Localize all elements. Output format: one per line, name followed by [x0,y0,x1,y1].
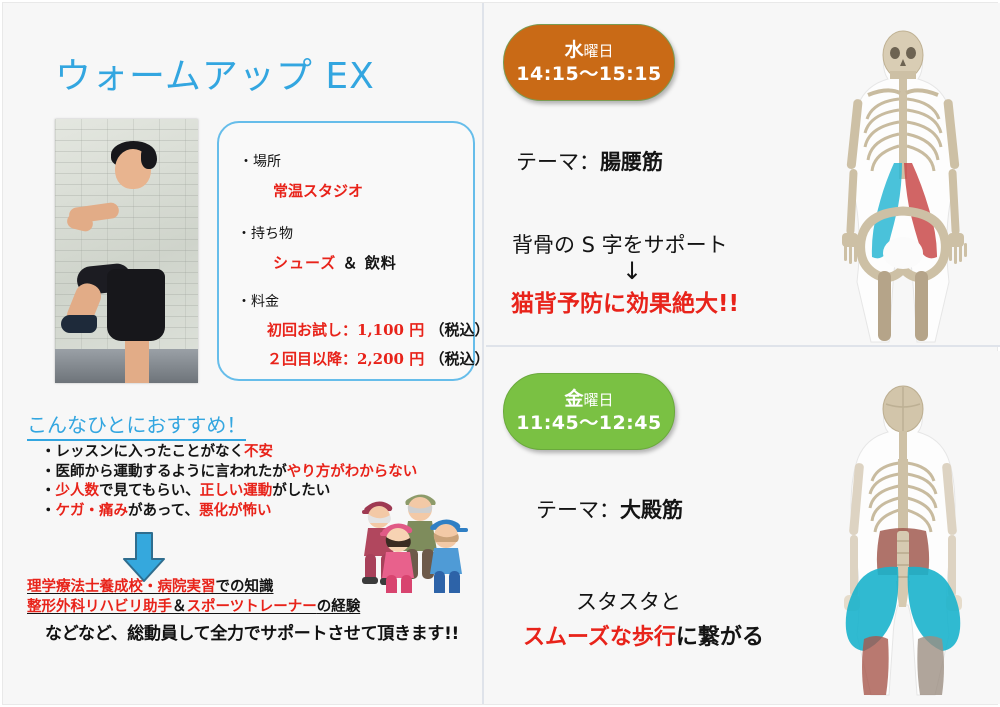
credential-2-red-a: 整形外科リハビリ助手 [27,599,172,615]
badge-time-wednesday: 14:15〜15:15 [516,62,661,86]
credential-line-2: 整形外科リハビリ助手＆スポーツトレーナーの経験 [27,597,459,617]
bring-drink: 飲料 [365,254,397,272]
credentials-closing: などなど、総動員して全力でサポートさせて頂きます!! [45,619,459,644]
fee-repeat-row: ２回目以降：2,200 円 （税込） [267,348,489,369]
theme-label-friday: テーマ： [536,498,620,522]
session-panel-friday: 金曜日 11:45〜12:45 テーマ：大殿筋 スタスタと スムーズな歩行に繋が… [486,351,1000,704]
message-plain-friday: スタスタと [576,586,681,616]
theme-friday: テーマ：大殿筋 [536,494,683,524]
session-panel-wednesday: 水曜日 14:15〜15:15 テーマ：腸腰筋 背骨の S 字をサポート ↓ 猫… [486,3,1000,347]
rec-3-red1: ケガ・痛み [56,503,129,519]
message-mix-black-friday: に繋がる [676,625,764,650]
rec-2-red2: 正しい運動 [200,483,273,499]
credential-2-red-b: スポーツトレーナー [187,599,317,615]
trainer-photo [55,119,198,383]
anatomy-gluteus-maximus-posterior [808,371,998,696]
badge-day-label-wednesday: 水曜日 [564,39,613,62]
rec-2-red1: 少人数 [56,483,100,499]
list-item: ・医師から運動するように言われたがやり方がわからない [41,463,417,483]
theme-value-friday: 大殿筋 [620,498,683,522]
day-badge-friday: 金曜日 11:45〜12:45 [503,373,675,450]
rec-3-black1: ・ [41,503,56,519]
message-mix-red-friday: スムーズな歩行 [523,625,676,650]
left-panel: ウォームアップ EX ・場所 常温スタジオ ・持ち物 [3,3,484,704]
rec-2-black1: ・ [41,483,56,499]
message-plain-wednesday: 背骨の S 字をサポート [512,229,728,259]
class-info-box: ・場所 常温スタジオ ・持ち物 シューズ ＆ 飲料 ・料金 初回お試し：1,10… [217,121,475,381]
credential-2-black-a: ＆ [172,599,187,615]
recommend-heading: こんなひとにおすすめ！ [27,409,246,441]
info-group-fee: ・料金 初回お試し：1,100 円 （税込） ２回目以降：2,200 円 （税込… [237,291,489,369]
badge-day-label-friday: 金曜日 [564,388,613,411]
theme-value-wednesday: 腸腰筋 [600,150,663,174]
rec-2-black3: がしたい [272,483,330,499]
page-title: ウォームアップ EX [55,47,375,99]
bring-label: ・持ち物 [237,223,397,243]
fee-first-tax: （税込） [429,321,489,339]
rec-1-red1: やり方がわからない [287,464,418,480]
photo-person-shorts [107,269,165,341]
credential-2-black-b: の経験 [317,599,361,615]
rec-3-red2: 悪化が怖い [199,503,272,519]
rec-2-black2: で見てもらい、 [99,483,200,499]
place-value: 常温スタジオ [273,180,363,201]
fee-repeat-amount: ２回目以降：2,200 円 [267,350,424,368]
theme-label-wednesday: テーマ： [516,150,600,174]
rec-0-red1: 不安 [244,444,273,460]
fee-label: ・料金 [237,291,489,311]
theme-wednesday: テーマ：腸腰筋 [516,146,663,176]
list-item: ・レッスンに入ったことがなく不安 [41,443,417,463]
badge-day-suffix-friday: 曜日 [584,391,614,409]
rec-3-black2: があって、 [128,503,199,519]
fee-repeat-tax: （税込） [429,350,489,368]
down-arrow-icon [121,531,167,583]
credentials-block: 理学療法士養成校・病院実習での知識 整形外科リハビリ助手＆スポーツトレーナーの経… [27,577,459,644]
credential-1-black: での知識 [216,579,274,595]
fee-first-row: 初回お試し：1,100 円 （税込） [267,319,489,340]
info-group-place: ・場所 常温スタジオ [239,151,363,201]
anatomy-iliopsoas-anterior [808,15,998,345]
bring-amp: ＆ [343,254,359,272]
message-red-wednesday: 猫背予防に効果絶大!! [511,284,739,318]
rec-1-black1: ・医師から運動するように言われたが [41,464,287,480]
photo-person-hair-side [141,147,157,169]
credential-line-1: 理学療法士養成校・病院実習での知識 [27,577,459,597]
message-mix-friday: スムーズな歩行に繋がる [523,619,764,651]
badge-day-kanji-wednesday: 水 [564,39,583,61]
badge-day-kanji-friday: 金 [564,388,583,410]
badge-day-suffix-wednesday: 曜日 [584,42,614,60]
photo-person-foot [61,315,97,333]
poster-root: ウォームアップ EX ・場所 常温スタジオ ・持ち物 [0,0,1000,707]
day-badge-wednesday: 水曜日 14:15〜15:15 [503,24,675,101]
fee-first-amount: 初回お試し：1,100 円 [267,321,424,339]
rec-0-black1: ・レッスンに入ったことがなく [41,444,244,460]
bring-value: シューズ ＆ 飲料 [273,252,397,273]
place-label: ・場所 [239,151,363,171]
message-arrow-wednesday: ↓ [622,257,642,285]
bring-shoes: シューズ [273,254,336,272]
badge-time-friday: 11:45〜12:45 [516,411,661,435]
photo-person-torso [105,185,167,275]
info-group-bring: ・持ち物 シューズ ＆ 飲料 [237,223,397,273]
credential-1-red: 理学療法士養成校・病院実習 [27,579,216,595]
